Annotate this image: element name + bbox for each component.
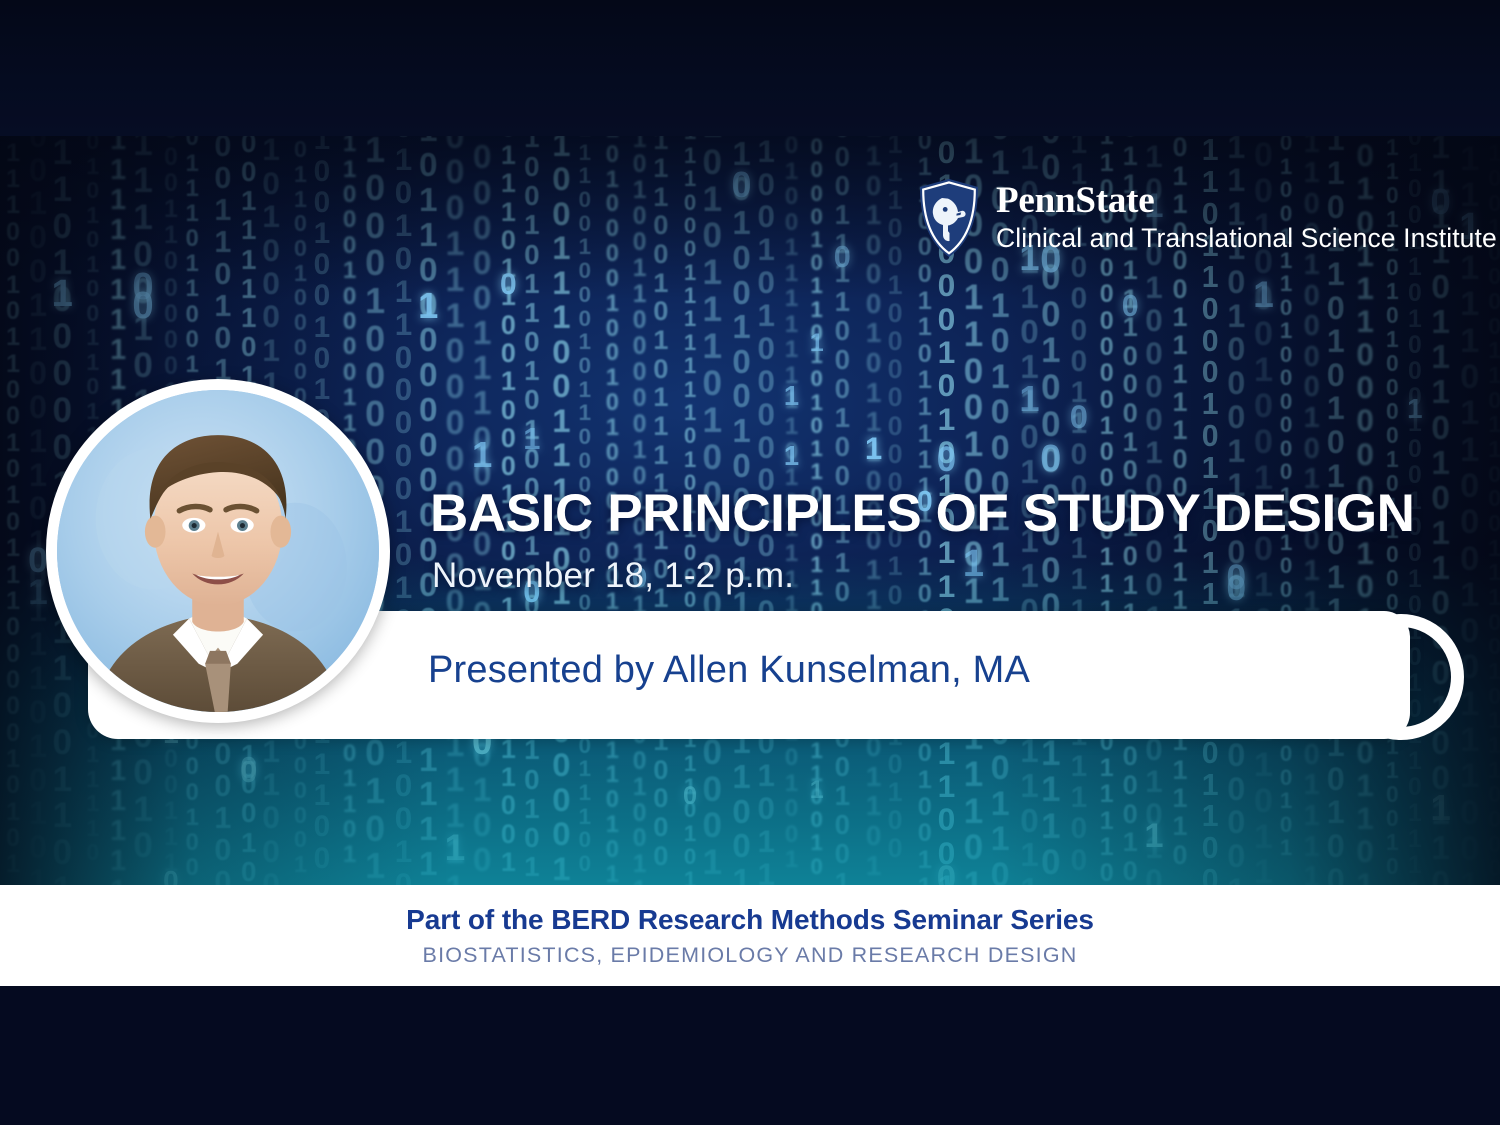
penn-state-logo-lockup: PennState Clinical and Translational Sci… bbox=[918, 178, 1497, 258]
binary-code-column: 0 0 1 0 0 1 1 0 0 1 1 0 1 0 1 1 1 0 1 0 … bbox=[25, 136, 51, 885]
top-letterbox-bar bbox=[0, 0, 1500, 136]
brand-name: PennState bbox=[996, 182, 1497, 220]
binary-code-accent-glyph: 0 bbox=[830, 241, 856, 273]
binary-code-accent-glyph: 0 bbox=[130, 267, 156, 307]
presenter-photo bbox=[57, 390, 379, 712]
binary-code-accent-glyph: 0 bbox=[1066, 400, 1092, 434]
binary-code-accent-glyph: 1 bbox=[416, 287, 442, 325]
binary-code-accent-glyph: 0 bbox=[934, 442, 960, 479]
binary-code-accent-glyph: 0 bbox=[729, 166, 755, 204]
binary-code-accent-glyph: 0 bbox=[934, 861, 960, 885]
binary-code-column: 0 1 0 1 0 1 1 0 0 0 0 0 1 0 1 0 0 0 0 1 … bbox=[391, 136, 417, 885]
binary-code-accent-glyph: 1 bbox=[1141, 818, 1167, 854]
penn-state-shield-icon bbox=[918, 178, 980, 258]
binary-code-accent-glyph: 1 bbox=[779, 442, 805, 471]
binary-code-accent-glyph: 1 bbox=[779, 382, 805, 411]
binary-code-accent-glyph: 0 bbox=[1224, 560, 1250, 597]
series-title: Part of the BERD Research Methods Semina… bbox=[406, 904, 1094, 936]
bottom-letterbox-bar bbox=[0, 986, 1500, 1125]
binary-code-accent-glyph: 1 bbox=[804, 330, 830, 356]
seminar-title: BASIC PRINCIPLES OF STUDY DESIGN bbox=[430, 487, 1475, 540]
penn-state-wordmark: PennState Clinical and Translational Sci… bbox=[996, 182, 1497, 254]
binary-code-accent-glyph: 0 bbox=[1117, 291, 1143, 323]
binary-code-accent-glyph: 1 bbox=[519, 423, 545, 455]
binary-code-accent-glyph: 0 bbox=[496, 269, 522, 300]
binary-code-accent-glyph: 1 bbox=[1402, 394, 1428, 423]
decorative-ring-shape bbox=[1338, 614, 1464, 740]
seminar-promo-slide: 0 1 1 1 0 0 1 0 1 1 0 0 1 0 1 0 1 1 1 0 … bbox=[0, 0, 1500, 1125]
binary-code-accent-glyph: 0 bbox=[1038, 440, 1064, 480]
binary-code-accent-glyph: 1 bbox=[961, 545, 987, 585]
presenter-avatar bbox=[46, 379, 390, 723]
brand-unit-name: Clinical and Translational Science Insti… bbox=[996, 223, 1497, 254]
binary-code-accent-glyph: 1 bbox=[1428, 789, 1454, 827]
seminar-datetime: November 18, 1-2 p.m. bbox=[432, 556, 794, 596]
binary-code-accent-glyph: 1 bbox=[50, 274, 76, 314]
presenter-name: Presented by Allen Kunselman, MA bbox=[428, 649, 1030, 692]
binary-code-accent-glyph: 1 bbox=[442, 828, 468, 867]
binary-code-accent-glyph: 1 bbox=[470, 436, 496, 474]
binary-code-column: 0 1 1 1 0 0 1 0 1 1 0 0 1 0 1 0 1 1 1 0 … bbox=[0, 136, 26, 878]
binary-code-accent-glyph: 1 bbox=[804, 777, 830, 803]
series-footer-band: Part of the BERD Research Methods Semina… bbox=[0, 885, 1500, 986]
series-subtitle: BIOSTATISTICS, EPIDEMIOLOGY AND RESEARCH… bbox=[423, 943, 1078, 968]
